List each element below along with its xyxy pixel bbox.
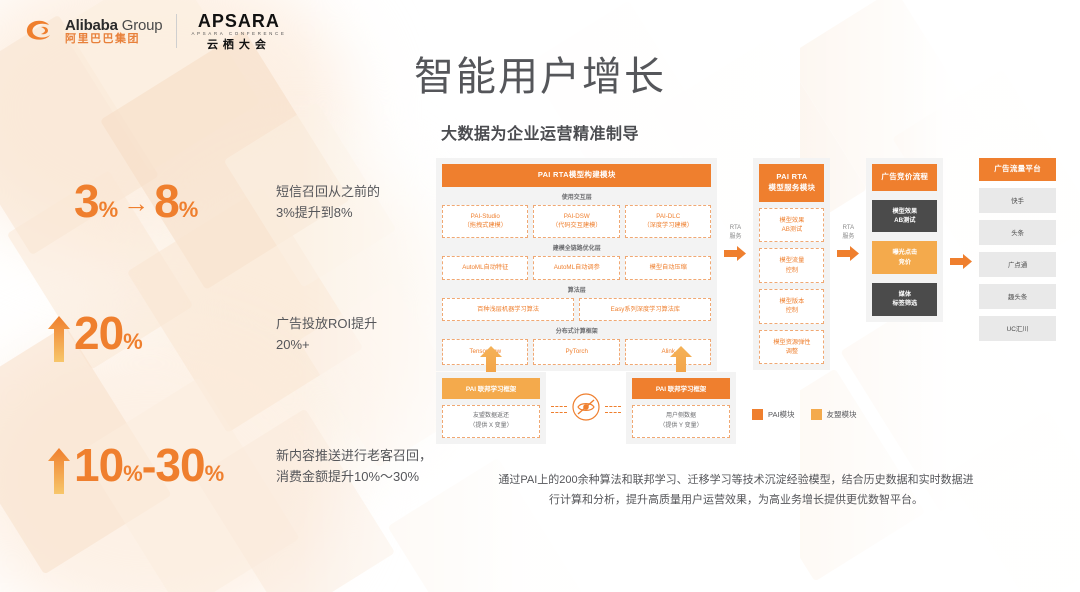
up-arrow-icon — [48, 316, 70, 362]
cell-model-resource-scaling[interactable]: 模型资源弹性 调整 — [759, 330, 824, 365]
cell-model-version-control[interactable]: 模型版本 控制 — [759, 289, 824, 324]
cell-model-compression[interactable]: 模型自动压缩 — [625, 256, 711, 280]
panel-model-build-header: PAI RTA模型构建模块 — [442, 164, 711, 187]
layer-cells-3: 百种浅层机器学习算法 Easy系列深度学习算法库 — [442, 298, 711, 322]
cell-model-ab-test[interactable]: 模型效果 AB测试 — [759, 208, 824, 243]
panel-model-serve: PAI RTA 模型服务模块 模型效果 AB测试 模型流量 控制 模型版本 控制… — [753, 158, 830, 370]
connector-rta-service-1: RTA 服务 — [717, 158, 753, 261]
footer-caption: 通过PAI上的200余种算法和联邦学习、迁移学习等技术沉淀经验模型，结合历史数据… — [496, 470, 976, 511]
fed-right-header: PAI 联邦学习框架 — [632, 378, 730, 399]
up-arrow-icon — [670, 346, 692, 376]
cell-platform-kuaishou[interactable]: 快手 — [979, 188, 1056, 213]
privacy-connector — [546, 372, 626, 426]
fed-box-left: PAI 联邦学习框架 友盟数据返还 （提供 X 变量） — [436, 372, 546, 444]
arrow-right-icon — [950, 254, 972, 269]
cell-shallow-ml-algos[interactable]: 百种浅层机器学习算法 — [442, 298, 574, 322]
layer-label-1: 使用交互层 — [442, 187, 711, 205]
eye-slash-icon — [571, 392, 601, 427]
brand-bar: Alibaba Group 阿里巴巴集团 APSARA APSARA CONFE… — [24, 12, 286, 51]
stat-2-description: 广告投放ROI提升 20%+ — [276, 314, 377, 356]
stat-2-from-pct: % — [123, 329, 142, 354]
alibaba-mark-icon — [24, 18, 58, 44]
alibaba-name: Alibaba — [65, 17, 118, 34]
layer-cells-1: PAI-Studio （拖拽式建模） PAI-DSW （代码交互建模） PAI-… — [442, 205, 711, 238]
stat-item-2: 20% 广告投放ROI提升 20%+ — [48, 310, 438, 402]
alibaba-name-cn: 阿里巴巴集团 — [65, 34, 162, 46]
cell-automl-tuning[interactable]: AutoML自动调参 — [533, 256, 619, 280]
cell-pai-studio[interactable]: PAI-Studio （拖拽式建模） — [442, 205, 528, 238]
stat-1-to-pct: % — [179, 197, 198, 222]
cell-pai-dlc[interactable]: PAI-DLC （深度学习建模） — [625, 205, 711, 238]
apsara-subtitle: APSARA CONFERENCE — [191, 32, 286, 37]
legend-item-pai: PAI模块 — [752, 409, 795, 420]
panel-ad-platform-header: 广告流量平台 — [979, 158, 1056, 181]
federated-learning-section: PAI 联邦学习框架 友盟数据返还 （提供 X 变量） — [436, 372, 736, 444]
fed-right-cell[interactable]: 用户侧数据 （提供 Y 变量） — [632, 405, 730, 438]
legend-label-pai: PAI模块 — [768, 409, 795, 420]
fed-left-header: PAI 联邦学习框架 — [442, 378, 540, 399]
stat-3-from-pct: % — [123, 461, 142, 486]
cell-platform-toutiao[interactable]: 头条 — [979, 220, 1056, 245]
panel-model-serve-header: PAI RTA 模型服务模块 — [759, 164, 824, 202]
apsara-name: APSARA — [191, 12, 286, 32]
layer-cells-2: AutoML自动特征 AutoML自动调参 模型自动压缩 — [442, 256, 711, 280]
cell-platform-gdt[interactable]: 广点通 — [979, 252, 1056, 277]
legend-item-umeng: 友盟模块 — [811, 409, 857, 420]
cell-automl-feature[interactable]: AutoML自动特征 — [442, 256, 528, 280]
alibaba-group-word: Group — [118, 17, 163, 34]
page-title: 智能用户增长 — [0, 44, 1080, 102]
stat-value-2: 20% — [74, 310, 142, 356]
panel-ad-bidding: 广告竞价流程 模型效果 AB测试 曝光点击 竞价 媒体 标签筛选 — [866, 158, 943, 322]
layer-label-2: 建模全链路优化层 — [442, 238, 711, 256]
connector-1-label: RTA 服务 — [717, 224, 753, 241]
stat-3-description: 新内容推送进行老客召回， 消费金额提升10%～30% — [276, 446, 432, 488]
stat-2-from: 20 — [74, 307, 123, 359]
apsara-name-cn: 云栖大会 — [191, 39, 286, 51]
panel-model-build: PAI RTA模型构建模块 使用交互层 PAI-Studio （拖拽式建模） P… — [436, 158, 717, 371]
cell-media-tag-filter[interactable]: 媒体 标签筛选 — [872, 283, 937, 316]
apsara-logo: APSARA APSARA CONFERENCE 云栖大会 — [191, 12, 286, 51]
cell-alink[interactable]: Alink — [625, 339, 711, 365]
stat-1-description: 短信召回从之前的 3%提升到8% — [276, 182, 380, 224]
cell-model-traffic-control[interactable]: 模型流量 控制 — [759, 248, 824, 283]
stat-1-to: 8 — [154, 175, 179, 227]
connector-2-label: RTA 服务 — [830, 224, 866, 241]
arrow-right-icon — [837, 246, 859, 261]
stat-3-to-pct: % — [205, 461, 224, 486]
legend: PAI模块 友盟模块 — [752, 409, 857, 420]
page-subtitle: 大数据为企业运营精准制导 — [0, 120, 1080, 144]
cell-platform-uc[interactable]: UC汇川 — [979, 316, 1056, 341]
stats-list: 3%→8% 短信召回从之前的 3%提升到8% 20% 广告投放ROI提升 20%… — [48, 178, 438, 534]
stat-value-3: 10%-30% — [74, 442, 223, 489]
connector-rta-service-2: RTA 服务 — [830, 158, 866, 261]
stat-3-to: 30 — [155, 439, 204, 491]
stat-1-arrow: → — [117, 188, 154, 218]
legend-swatch-pai — [752, 409, 763, 420]
fed-box-right: PAI 联邦学习框架 用户侧数据 （提供 Y 变量） — [626, 372, 736, 444]
layer-label-3: 算法层 — [442, 280, 711, 298]
connector-to-platform — [943, 158, 979, 269]
cell-pai-dsw[interactable]: PAI-DSW （代码交互建模） — [533, 205, 619, 238]
legend-label-umeng: 友盟模块 — [827, 409, 857, 420]
stat-item-1: 3%→8% 短信召回从之前的 3%提升到8% — [48, 178, 438, 270]
stat-value-1: 3%→8% — [74, 178, 197, 224]
stat-3-dash: - — [142, 442, 156, 491]
brand-divider — [176, 14, 177, 48]
cell-impression-click-bid[interactable]: 曝光点击 竞价 — [872, 241, 937, 274]
title-block: 智能用户增长 大数据为企业运营精准制导 — [0, 44, 1080, 144]
up-arrow-icon — [48, 448, 70, 494]
stat-1-from: 3 — [74, 175, 99, 227]
stat-item-3: 10%-30% 新内容推送进行老客召回， 消费金额提升10%～30% — [48, 442, 438, 534]
legend-swatch-umeng — [811, 409, 822, 420]
architecture-diagram: PAI RTA模型构建模块 使用交互层 PAI-Studio （拖拽式建模） P… — [436, 158, 1056, 371]
panel-ad-platform: 广告流量平台 快手 头条 广点通 趣头条 UC汇川 — [979, 158, 1056, 341]
cell-bid-ab-test[interactable]: 模型效果 AB测试 — [872, 200, 937, 233]
cell-platform-qutoutiao[interactable]: 趣头条 — [979, 284, 1056, 309]
layer-label-4: 分布式计算框架 — [442, 321, 711, 339]
fed-left-cell[interactable]: 友盟数据返还 （提供 X 变量） — [442, 405, 540, 438]
cell-pytorch[interactable]: PyTorch — [533, 339, 619, 365]
panel-ad-bidding-header: 广告竞价流程 — [872, 164, 937, 191]
up-arrow-icon — [480, 346, 502, 376]
stat-1-from-pct: % — [99, 197, 118, 222]
cell-easy-dl-library[interactable]: Easy系列深度学习算法库 — [579, 298, 711, 322]
arrow-right-icon — [724, 246, 746, 261]
stat-3-from: 10 — [74, 439, 123, 491]
alibaba-logo: Alibaba Group 阿里巴巴集团 — [24, 18, 162, 45]
